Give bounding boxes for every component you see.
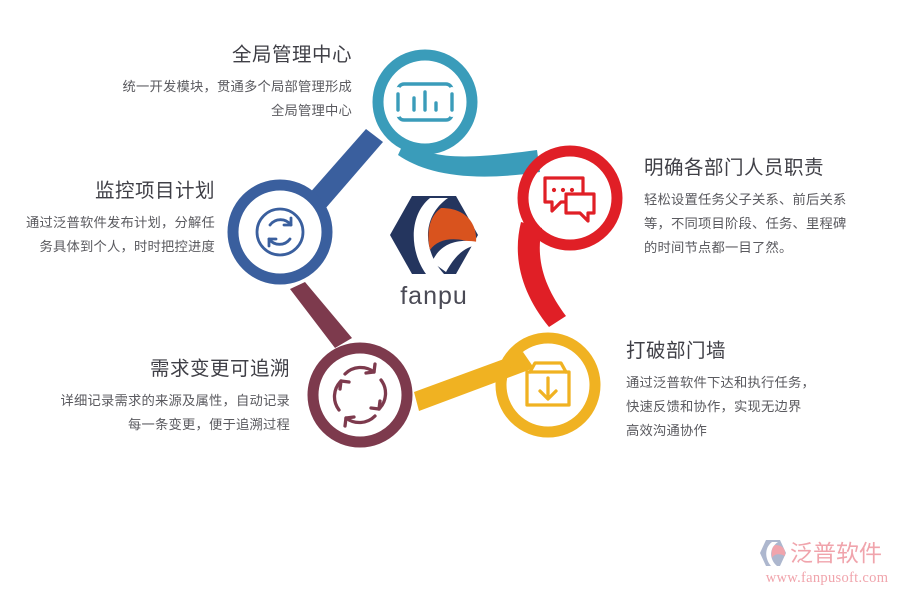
text-block-department-duty: 明确各部门人员职责 轻松设置任务父子关系、前后关系 等，不同项目阶段、任务、里程… <box>644 155 896 259</box>
fanpu-wordmark: fanpu <box>378 282 490 311</box>
node-monitor-project-plan[interactable] <box>233 129 383 279</box>
body-monitor-project-plan: 通过泛普软件发布计划，分解任 务具体到个人，时时把控进度 <box>0 211 215 258</box>
body-line: 快速反馈和协作，实现无边界 <box>626 395 888 419</box>
title-requirement-traceable: 需求变更可追溯 <box>18 356 290 382</box>
circular-arrows-icon <box>334 364 385 426</box>
body-line: 轻松设置任务父子关系、前后关系 <box>644 188 896 212</box>
infographic-canvas: 全局管理中心 统一开发模块，贯通多个局部管理形成 全局管理中心 监控项目计划 通… <box>0 0 900 600</box>
title-monitor-project-plan: 监控项目计划 <box>0 178 215 204</box>
fanpu-watermark: 泛普软件 www.fanpusoft.com <box>757 538 897 587</box>
fanpu-logo-mark <box>386 192 482 278</box>
text-block-requirement-traceable: 需求变更可追溯 详细记录需求的来源及属性，自动记录 每一条变更，便于追溯过程 <box>18 356 290 437</box>
body-requirement-traceable: 详细记录需求的来源及属性，自动记录 每一条变更，便于追溯过程 <box>18 389 290 436</box>
body-line: 高效沟通协作 <box>626 419 888 443</box>
body-global-management-center: 统一开发模块，贯通多个局部管理形成 全局管理中心 <box>70 75 352 122</box>
body-break-department-wall: 通过泛普软件下达和执行任务， 快速反馈和协作，实现无边界 高效沟通协作 <box>626 371 888 442</box>
body-department-duty: 轻松设置任务父子关系、前后关系 等，不同项目阶段、任务、里程碑 的时间节点都一目… <box>644 188 896 259</box>
watermark-url: www.fanpusoft.com <box>757 570 897 587</box>
body-line: 统一开发模块，贯通多个局部管理形成 <box>70 75 352 99</box>
chat-bubbles-icon <box>545 178 594 221</box>
body-line: 务具体到个人，时时把控进度 <box>0 235 215 259</box>
body-line: 等，不同项目阶段、任务、里程碑 <box>644 212 896 236</box>
bar-chart-icon <box>398 84 452 120</box>
node-department-duty[interactable] <box>518 151 617 327</box>
sync-refresh-icon <box>257 209 303 255</box>
ring-blue <box>233 185 327 279</box>
text-block-monitor-project-plan: 监控项目计划 通过泛普软件发布计划，分解任 务具体到个人，时时把控进度 <box>0 178 215 259</box>
node-global-management-center[interactable] <box>378 55 540 177</box>
ring-maroon <box>313 348 407 442</box>
body-line: 详细记录需求的来源及属性，自动记录 <box>18 389 290 413</box>
watermark-logo-icon <box>757 538 787 568</box>
body-line: 通过泛普软件发布计划，分解任 <box>0 211 215 235</box>
body-line: 的时间节点都一目了然。 <box>644 236 896 260</box>
body-line: 全局管理中心 <box>70 99 352 123</box>
node-break-department-wall[interactable] <box>414 338 595 432</box>
title-global-management-center: 全局管理中心 <box>70 42 352 68</box>
body-line: 通过泛普软件下达和执行任务， <box>626 371 888 395</box>
watermark-company-name: 泛普软件 <box>790 542 882 565</box>
text-block-break-department-wall: 打破部门墙 通过泛普软件下达和执行任务， 快速反馈和协作，实现无边界 高效沟通协… <box>626 338 888 442</box>
connector-maroon-to-blue <box>290 282 352 348</box>
body-line: 每一条变更，便于追溯过程 <box>18 413 290 437</box>
text-block-global-management-center: 全局管理中心 统一开发模块，贯通多个局部管理形成 全局管理中心 <box>70 42 352 123</box>
inbox-download-icon <box>527 363 569 405</box>
center-brand-logo: fanpu <box>378 192 490 311</box>
title-break-department-wall: 打破部门墙 <box>626 338 888 364</box>
connector-gold-to-maroon <box>414 352 534 411</box>
title-department-duty: 明确各部门人员职责 <box>644 155 896 181</box>
